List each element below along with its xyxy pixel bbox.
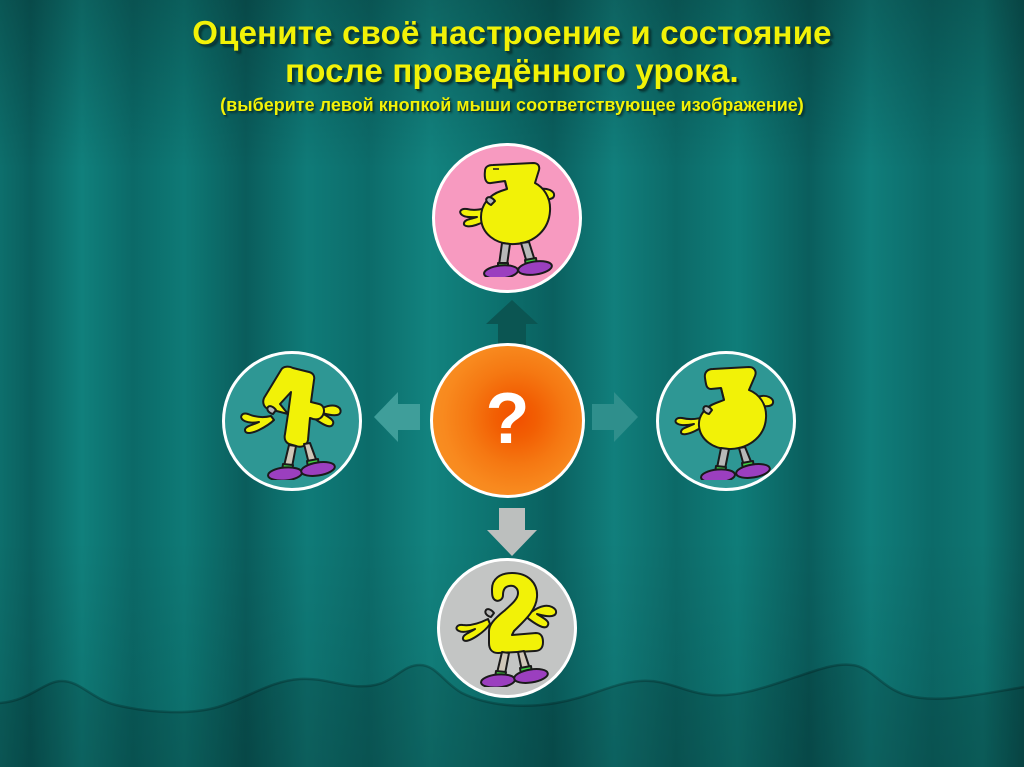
- title-block: Оцените своё настроение и состояние посл…: [0, 14, 1024, 117]
- page-title-line-2: после проведённого урока.: [0, 52, 1024, 90]
- option-circle-left[interactable]: [222, 351, 362, 491]
- center-question-circle[interactable]: ?: [430, 343, 585, 498]
- character-figure-5-icon: [455, 159, 559, 277]
- question-mark-label: ?: [486, 383, 530, 455]
- character-figure-3-icon: [673, 362, 779, 480]
- arrow-down-icon: [487, 508, 537, 556]
- option-circle-bottom[interactable]: [437, 558, 577, 698]
- character-figure-4-icon: [239, 362, 345, 480]
- arrow-right-icon: [592, 392, 638, 442]
- arrow-left-icon: [374, 392, 420, 442]
- page-title-line-1: Оцените своё настроение и состояние: [0, 14, 1024, 52]
- option-circle-right[interactable]: [656, 351, 796, 491]
- character-figure-2-icon: [454, 569, 560, 687]
- arrow-up-icon: [486, 300, 538, 346]
- presentation-slide: Оцените своё настроение и состояние посл…: [0, 0, 1024, 767]
- option-circle-top[interactable]: [432, 143, 582, 293]
- page-subtitle: (выберите левой кнопкой мыши соответству…: [0, 93, 1024, 117]
